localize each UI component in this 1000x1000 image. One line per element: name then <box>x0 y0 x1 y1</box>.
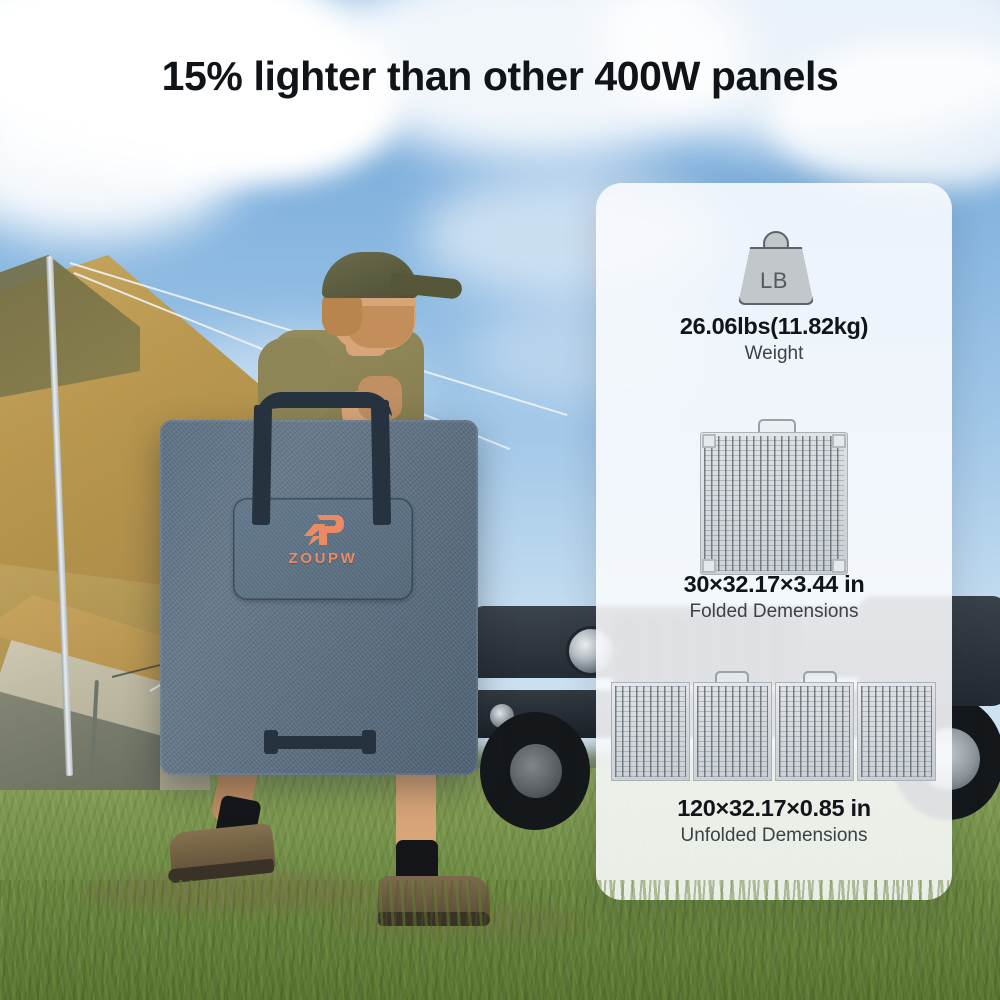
spec-label: Unfolded Demensions <box>596 825 952 848</box>
folded-solar-panel-icon <box>700 419 848 575</box>
panel-corner-bracket <box>702 434 716 448</box>
weight-icon-box: LB <box>596 225 952 305</box>
brand-name: ZOUPW <box>233 550 413 567</box>
unfolded-icon-box <box>596 671 952 781</box>
solar-panel-bag: ZOUPW <box>160 420 478 775</box>
zoupw-lightning-p-logo-icon <box>300 512 346 548</box>
spec-label: Folded Demensions <box>596 601 952 624</box>
weight-lb-label: LB <box>734 268 814 294</box>
panel-corner-bracket <box>832 434 846 448</box>
page-title: 15% lighter than other 400W panels <box>0 53 1000 100</box>
spec-unfolded: 120×32.17×0.85 in Unfolded Demensions <box>596 795 952 848</box>
bag-shoulder-strap <box>371 400 391 525</box>
panel-section <box>775 682 854 781</box>
panel-section <box>611 682 690 781</box>
bag-bottom-handle-loop <box>264 730 278 754</box>
bag-strap-arc <box>256 392 392 418</box>
spec-weight: 26.06lbs(11.82kg) Weight <box>596 313 952 366</box>
foreground-grass <box>0 880 1000 1000</box>
bag-bottom-handle <box>272 736 368 749</box>
panel-face <box>700 432 848 575</box>
weight-lb-icon: LB <box>734 231 814 305</box>
spec-value: 30×32.17×3.44 in <box>596 571 952 598</box>
spec-folded: 30×32.17×3.44 in Folded Demensions <box>596 571 952 624</box>
spec-value: 120×32.17×0.85 in <box>596 795 952 822</box>
bag-shoulder-strap <box>252 405 272 525</box>
spec-value: 26.06lbs(11.82kg) <box>596 313 952 340</box>
spec-label: Weight <box>596 343 952 366</box>
bag-bottom-handle-loop <box>362 730 376 754</box>
product-marketing-image: ZOUPW 15% lighter than other 400W panels… <box>0 0 1000 1000</box>
jeep-rim <box>510 744 562 798</box>
panel-section <box>857 682 936 781</box>
folded-icon-box <box>596 419 952 575</box>
panel-section <box>693 682 772 781</box>
spec-card: LB 26.06lbs(11.82kg) Weight 30×32.17×3.4… <box>596 183 952 900</box>
unfolded-solar-panel-icon <box>611 671 937 781</box>
